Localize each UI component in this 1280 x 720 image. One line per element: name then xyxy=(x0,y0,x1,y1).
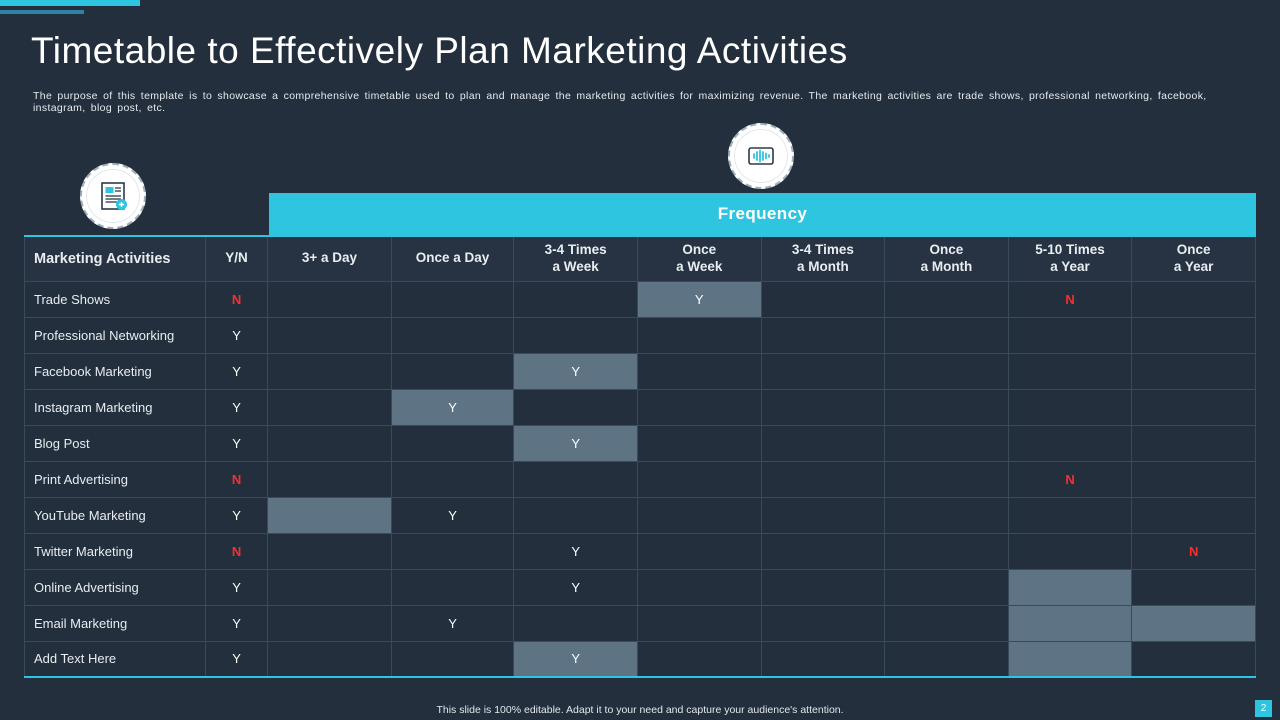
accent-bar-secondary xyxy=(0,10,84,14)
frequency-cell[interactable] xyxy=(268,425,392,461)
frequency-cell[interactable] xyxy=(885,569,1009,605)
frequency-cell[interactable] xyxy=(885,353,1009,389)
frequency-cell[interactable] xyxy=(885,389,1009,425)
frequency-cell[interactable] xyxy=(268,641,392,677)
table-header-col-3: Once a Day xyxy=(391,236,514,281)
table-row: Email MarketingYY xyxy=(25,605,1256,641)
yn-cell[interactable]: Y xyxy=(205,317,267,353)
yn-cell[interactable]: N xyxy=(205,533,267,569)
yn-marker: Y xyxy=(232,508,241,523)
frequency-cell[interactable]: Y xyxy=(514,425,638,461)
yn-cell[interactable]: N xyxy=(205,281,267,317)
frequency-cell[interactable] xyxy=(885,641,1009,677)
table-row: Blog PostYY xyxy=(25,425,1256,461)
table-row: Professional NetworkingY xyxy=(25,317,1256,353)
frequency-cell[interactable]: N xyxy=(1132,533,1256,569)
frequency-cell[interactable] xyxy=(1132,461,1256,497)
frequency-cell[interactable] xyxy=(1008,569,1132,605)
frequency-header-band: Frequency xyxy=(269,193,1256,235)
slide: Timetable to Effectively Plan Marketing … xyxy=(0,0,1280,720)
frequency-cell[interactable] xyxy=(637,353,761,389)
frequency-cell[interactable] xyxy=(761,353,885,389)
footer-note: This slide is 100% editable. Adapt it to… xyxy=(0,704,1280,716)
activity-label: Blog Post xyxy=(25,425,206,461)
table-row: Trade ShowsNYN xyxy=(25,281,1256,317)
frequency-cell[interactable] xyxy=(1132,569,1256,605)
yn-marker: Y xyxy=(232,651,241,666)
frequency-cell[interactable] xyxy=(514,389,638,425)
frequency-cell[interactable] xyxy=(268,533,392,569)
document-chart-icon xyxy=(80,163,146,229)
frequency-cell[interactable] xyxy=(761,605,885,641)
frequency-cell[interactable] xyxy=(1132,497,1256,533)
frequency-marker: Y xyxy=(571,364,580,379)
table-row: Twitter MarketingNYN xyxy=(25,533,1256,569)
yn-cell[interactable]: Y xyxy=(205,353,267,389)
activity-label: Facebook Marketing xyxy=(25,353,206,389)
audio-waveform-icon-inner xyxy=(734,129,789,184)
frequency-cell[interactable] xyxy=(268,353,392,389)
frequency-cell[interactable] xyxy=(637,389,761,425)
frequency-cell[interactable] xyxy=(885,281,1009,317)
frequency-cell[interactable] xyxy=(268,605,392,641)
frequency-cell[interactable] xyxy=(885,461,1009,497)
frequency-cell[interactable] xyxy=(637,425,761,461)
frequency-cell[interactable] xyxy=(514,461,638,497)
frequency-marker: Y xyxy=(571,651,580,666)
frequency-cell[interactable] xyxy=(885,317,1009,353)
frequency-cell[interactable] xyxy=(1008,497,1132,533)
activity-label: Print Advertising xyxy=(25,461,206,497)
frequency-cell[interactable] xyxy=(1132,425,1256,461)
frequency-cell[interactable] xyxy=(761,317,885,353)
page-subtitle: The purpose of this template is to showc… xyxy=(33,90,1233,114)
table-body: Trade ShowsNYNProfessional NetworkingYFa… xyxy=(25,281,1256,677)
frequency-cell[interactable]: N xyxy=(1008,461,1132,497)
frequency-cell[interactable] xyxy=(637,461,761,497)
frequency-cell[interactable] xyxy=(391,569,514,605)
yn-marker: Y xyxy=(232,436,241,451)
frequency-cell[interactable] xyxy=(268,389,392,425)
frequency-cell[interactable]: Y xyxy=(514,641,638,677)
frequency-cell[interactable] xyxy=(637,533,761,569)
accent-bar-top xyxy=(0,0,140,6)
frequency-cell[interactable] xyxy=(761,497,885,533)
frequency-marker: Y xyxy=(448,616,457,631)
frequency-marker: Y xyxy=(448,508,457,523)
frequency-cell[interactable] xyxy=(391,353,514,389)
frequency-cell[interactable] xyxy=(1008,605,1132,641)
activity-label: Email Marketing xyxy=(25,605,206,641)
frequency-cell[interactable] xyxy=(268,569,392,605)
table-header-col-7: Oncea Month xyxy=(885,236,1009,281)
frequency-cell[interactable] xyxy=(885,497,1009,533)
yn-cell[interactable]: Y xyxy=(205,569,267,605)
frequency-cell[interactable] xyxy=(1008,389,1132,425)
frequency-cell[interactable] xyxy=(885,605,1009,641)
frequency-cell[interactable] xyxy=(761,641,885,677)
yn-cell[interactable]: Y xyxy=(205,425,267,461)
table-row: YouTube MarketingYY xyxy=(25,497,1256,533)
table-header-col-8: 5-10 Timesa Year xyxy=(1008,236,1132,281)
frequency-cell[interactable] xyxy=(268,281,392,317)
frequency-cell[interactable] xyxy=(1008,425,1132,461)
frequency-cell[interactable] xyxy=(761,389,885,425)
audio-waveform-icon xyxy=(728,123,794,189)
yn-marker: N xyxy=(232,472,241,487)
frequency-cell[interactable] xyxy=(761,281,885,317)
table-header-activities: Marketing Activities xyxy=(25,236,206,281)
frequency-cell[interactable] xyxy=(761,569,885,605)
document-chart-icon-svg xyxy=(93,176,133,216)
activity-label: Online Advertising xyxy=(25,569,206,605)
timetable: Marketing ActivitiesY/N3+ a DayOnce a Da… xyxy=(24,235,1256,678)
frequency-cell[interactable]: Y xyxy=(391,605,514,641)
frequency-cell[interactable] xyxy=(761,425,885,461)
table-header-col-9: Oncea Year xyxy=(1132,236,1256,281)
frequency-cell[interactable] xyxy=(514,281,638,317)
frequency-cell[interactable] xyxy=(1132,353,1256,389)
yn-cell[interactable]: Y xyxy=(205,497,267,533)
frequency-cell[interactable] xyxy=(885,425,1009,461)
frequency-header-label: Frequency xyxy=(718,204,808,224)
frequency-cell[interactable] xyxy=(637,497,761,533)
frequency-cell[interactable]: Y xyxy=(637,281,761,317)
yn-marker: N xyxy=(232,544,241,559)
frequency-cell[interactable] xyxy=(268,317,392,353)
table-header-col-1: Y/N xyxy=(205,236,267,281)
yn-cell[interactable]: Y xyxy=(205,605,267,641)
activity-label: Twitter Marketing xyxy=(25,533,206,569)
frequency-marker: Y xyxy=(571,544,580,559)
activity-label: Professional Networking xyxy=(25,317,206,353)
frequency-cell[interactable] xyxy=(1132,389,1256,425)
yn-marker: Y xyxy=(232,364,241,379)
activity-label: Add Text Here xyxy=(25,641,206,677)
frequency-cell[interactable] xyxy=(637,317,761,353)
frequency-cell[interactable] xyxy=(514,317,638,353)
frequency-marker: N xyxy=(1065,292,1074,307)
frequency-marker: Y xyxy=(571,436,580,451)
frequency-cell[interactable] xyxy=(391,425,514,461)
frequency-cell[interactable]: Y xyxy=(514,533,638,569)
frequency-cell[interactable] xyxy=(1008,353,1132,389)
frequency-cell[interactable] xyxy=(514,605,638,641)
yn-cell[interactable]: Y xyxy=(205,389,267,425)
yn-marker: Y xyxy=(232,400,241,415)
frequency-cell[interactable] xyxy=(391,281,514,317)
table-row: Online AdvertisingYY xyxy=(25,569,1256,605)
frequency-marker: N xyxy=(1065,472,1074,487)
table-header-col-6: 3-4 Timesa Month xyxy=(761,236,885,281)
frequency-cell[interactable] xyxy=(268,461,392,497)
table-header-row: Marketing ActivitiesY/N3+ a DayOnce a Da… xyxy=(25,236,1256,281)
yn-marker: Y xyxy=(232,580,241,595)
document-chart-icon-inner xyxy=(86,169,141,224)
page-title: Timetable to Effectively Plan Marketing … xyxy=(31,30,848,72)
frequency-cell[interactable] xyxy=(1008,533,1132,569)
frequency-marker: Y xyxy=(695,292,704,307)
yn-marker: Y xyxy=(232,328,241,343)
frequency-cell[interactable] xyxy=(637,605,761,641)
frequency-cell[interactable] xyxy=(391,641,514,677)
yn-marker: Y xyxy=(232,616,241,631)
frequency-cell[interactable] xyxy=(761,461,885,497)
table-row: Print AdvertisingNN xyxy=(25,461,1256,497)
activity-label: YouTube Marketing xyxy=(25,497,206,533)
table-header-col-2: 3+ a Day xyxy=(268,236,392,281)
frequency-cell[interactable] xyxy=(1132,281,1256,317)
table-row: Instagram MarketingYY xyxy=(25,389,1256,425)
frequency-marker: Y xyxy=(448,400,457,415)
activity-label: Instagram Marketing xyxy=(25,389,206,425)
table-header-col-5: Oncea Week xyxy=(637,236,761,281)
frequency-cell[interactable]: Y xyxy=(514,569,638,605)
yn-marker: N xyxy=(232,292,241,307)
frequency-cell[interactable] xyxy=(391,533,514,569)
frequency-cell[interactable]: Y xyxy=(514,353,638,389)
frequency-cell[interactable] xyxy=(514,497,638,533)
frequency-cell[interactable] xyxy=(1008,317,1132,353)
yn-cell[interactable]: N xyxy=(205,461,267,497)
frequency-cell[interactable] xyxy=(391,461,514,497)
frequency-cell[interactable] xyxy=(1132,605,1256,641)
frequency-cell[interactable] xyxy=(1132,641,1256,677)
table-row: Facebook MarketingYY xyxy=(25,353,1256,389)
frequency-cell[interactable]: N xyxy=(1008,281,1132,317)
frequency-cell[interactable] xyxy=(637,569,761,605)
frequency-marker: Y xyxy=(571,580,580,595)
frequency-cell[interactable] xyxy=(1008,641,1132,677)
frequency-cell[interactable] xyxy=(761,533,885,569)
frequency-cell[interactable] xyxy=(1132,317,1256,353)
frequency-marker: N xyxy=(1189,544,1198,559)
table-row: Add Text HereYY xyxy=(25,641,1256,677)
page-number-badge: 2 xyxy=(1255,700,1272,717)
table-header-col-4: 3-4 Timesa Week xyxy=(514,236,638,281)
frequency-cell[interactable]: Y xyxy=(391,497,514,533)
frequency-cell[interactable]: Y xyxy=(391,389,514,425)
frequency-cell[interactable] xyxy=(268,497,392,533)
yn-cell[interactable]: Y xyxy=(205,641,267,677)
frequency-cell[interactable] xyxy=(885,533,1009,569)
frequency-cell[interactable] xyxy=(637,641,761,677)
activity-label: Trade Shows xyxy=(25,281,206,317)
frequency-cell[interactable] xyxy=(391,317,514,353)
table-header: Marketing ActivitiesY/N3+ a DayOnce a Da… xyxy=(25,236,1256,281)
audio-waveform-icon-svg xyxy=(741,136,781,176)
